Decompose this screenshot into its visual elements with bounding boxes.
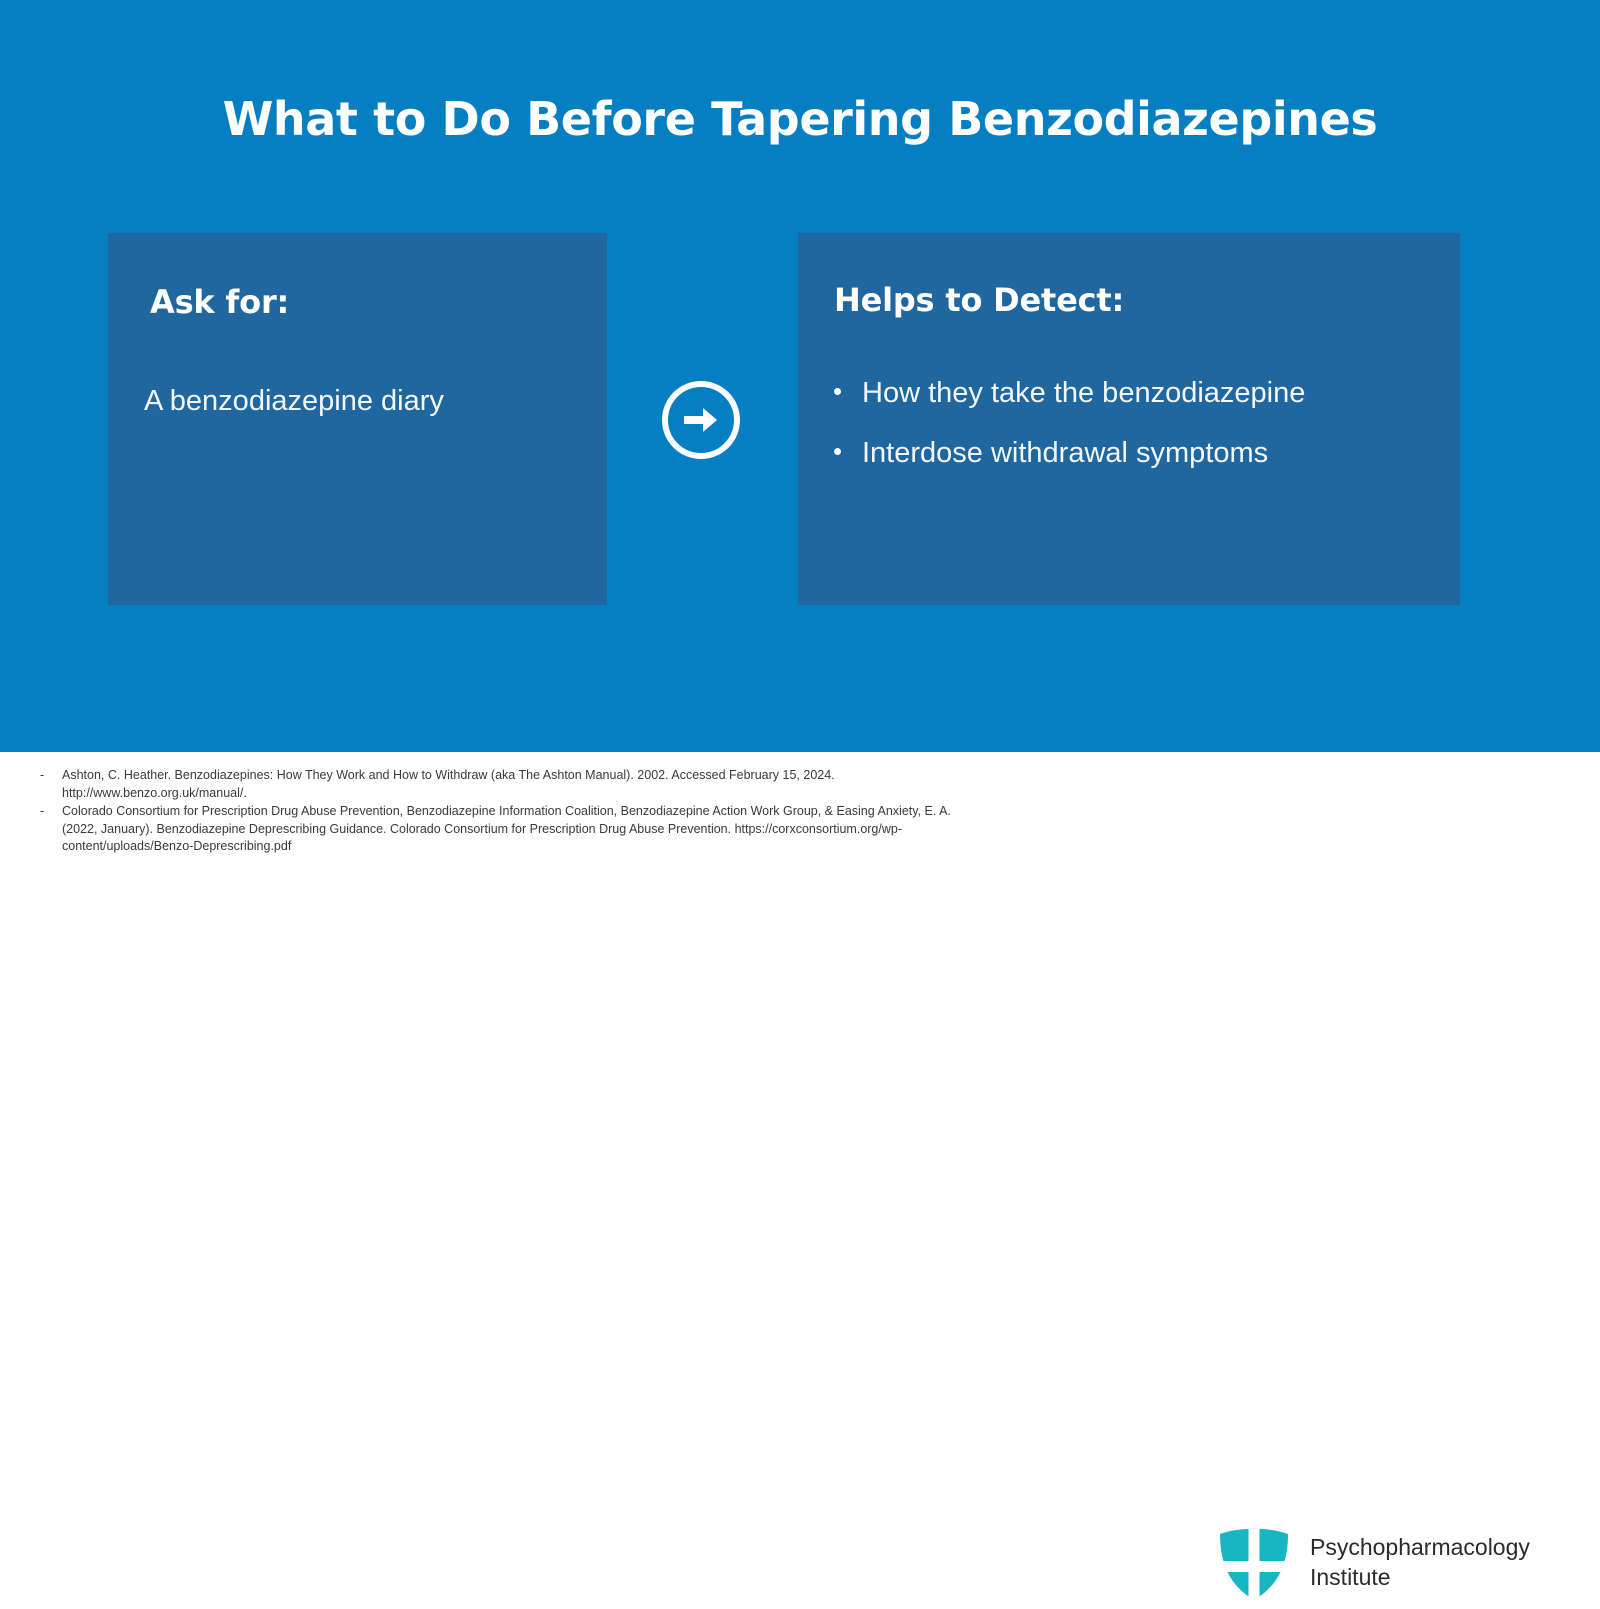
list-item: How they take the benzodiazepine [830,375,1430,411]
helps-to-detect-list: How they take the benzodiazepine Interdo… [830,375,1430,496]
brand-logo: Psychopharmacology Institute [1212,1520,1530,1604]
reference-item: - Colorado Consortium for Prescription D… [40,803,980,856]
slide-footer: - Ashton, C. Heather. Benzodiazepines: H… [0,752,1600,899]
reference-text: Ashton, C. Heather. Benzodiazepines: How… [62,767,980,802]
ask-for-body-text: A benzodiazepine diary [144,383,574,421]
ask-for-panel: Ask for: A benzodiazepine diary [108,233,607,605]
brand-line-2: Institute [1310,1562,1530,1592]
shield-cross-logo-icon [1212,1520,1296,1604]
bullet-dot-icon [834,388,841,395]
brand-name: Psychopharmacology Institute [1310,1532,1530,1592]
references-block: - Ashton, C. Heather. Benzodiazepines: H… [40,767,980,857]
ask-for-heading: Ask for: [150,283,289,321]
arrow-right-circle-icon [660,379,742,461]
helps-to-detect-panel: Helps to Detect: How they take the benzo… [798,233,1460,605]
reference-item: - Ashton, C. Heather. Benzodiazepines: H… [40,767,980,802]
slide-root: What to Do Before Tapering Benzodiazepin… [0,0,1600,899]
reference-text: Colorado Consortium for Prescription Dru… [62,803,980,856]
page-title: What to Do Before Tapering Benzodiazepin… [0,93,1600,146]
list-item-label: How they take the benzodiazepine [862,377,1305,409]
list-item-label: Interdose withdrawal symptoms [862,437,1268,469]
reference-marker: - [40,767,62,785]
helps-to-detect-heading: Helps to Detect: [834,281,1124,319]
slide-stage: What to Do Before Tapering Benzodiazepin… [0,0,1600,752]
reference-marker: - [40,803,62,821]
list-item: Interdose withdrawal symptoms [830,435,1430,471]
brand-line-1: Psychopharmacology [1310,1534,1530,1560]
bullet-dot-icon [834,448,841,455]
